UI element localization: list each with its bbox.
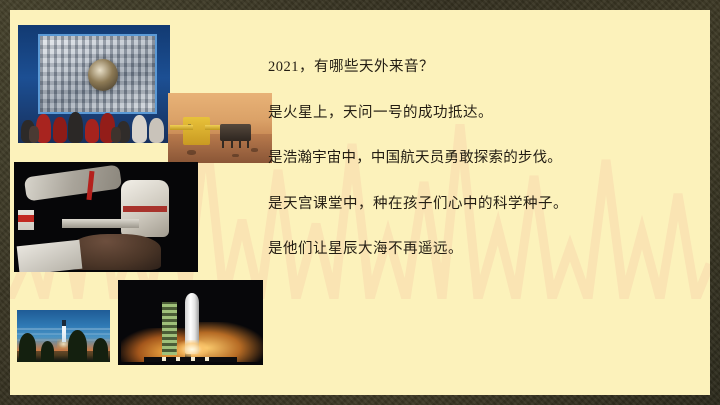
photo-students-watching-broadcast bbox=[18, 25, 170, 143]
slide-text-line-4: 是天宫课堂中，种在孩子们心中的科学种子。 bbox=[268, 195, 700, 215]
slide-text-line-5: 是他们让星辰大海不再遥远。 bbox=[268, 240, 700, 260]
slide-text-line-1: 2021，有哪些天外来音？ bbox=[268, 58, 700, 78]
slide-canvas: 2021，有哪些天外来音？ 是火星上，天问一号的成功抵达。 是浩瀚宇宙中，中国航… bbox=[10, 10, 710, 395]
slide-text-line-3: 是浩瀚宇宙中，中国航天员勇敢探索的步伐。 bbox=[268, 149, 700, 169]
slide-text-line-2: 是火星上，天问一号的成功抵达。 bbox=[268, 104, 700, 124]
photo-mars-rover-zhurong bbox=[168, 93, 272, 163]
slide-text-block: 2021，有哪些天外来音？ 是火星上，天问一号的成功抵达。 是浩瀚宇宙中，中国航… bbox=[268, 58, 700, 260]
photo-rocket-ascent-dusk bbox=[17, 310, 110, 362]
presentation-slide: 2021，有哪些天外来音？ 是火星上，天问一号的成功抵达。 是浩瀚宇宙中，中国航… bbox=[0, 0, 720, 405]
photo-night-rocket-launch bbox=[118, 280, 263, 365]
photo-astronaut-spacewalk bbox=[14, 162, 198, 272]
